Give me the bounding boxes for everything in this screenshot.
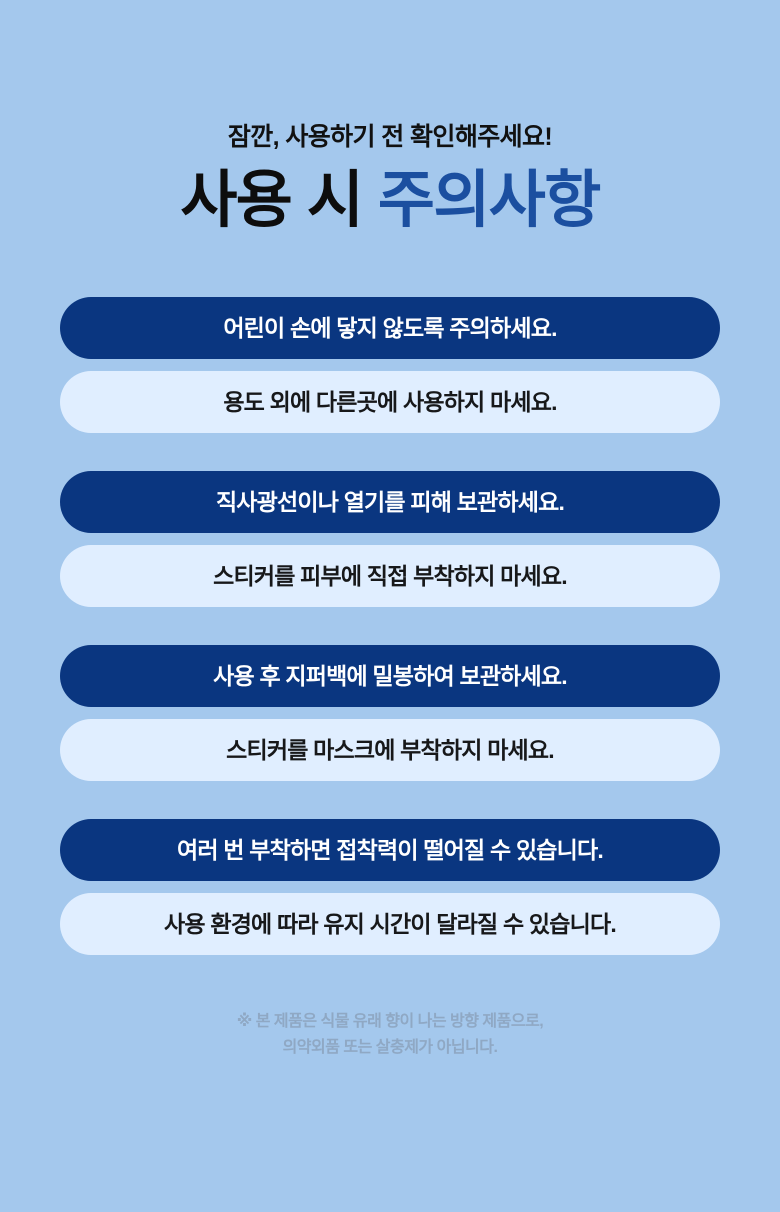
caution-item-secondary: 스티커를 마스크에 부착하지 마세요.	[60, 719, 720, 781]
caution-item-primary: 사용 후 지퍼백에 밀봉하여 보관하세요.	[60, 645, 720, 707]
caution-group: 사용 후 지퍼백에 밀봉하여 보관하세요. 스티커를 마스크에 부착하지 마세요…	[60, 645, 720, 781]
footnote: ※ 본 제품은 식물 유래 향이 나는 방향 제품으로, 의약외품 또는 살충제…	[60, 1009, 720, 1061]
poster-header: 잠깐, 사용하기 전 확인해주세요! 사용 시 주의사항	[0, 0, 780, 235]
page-title: 사용 시 주의사항	[0, 166, 780, 235]
caution-group: 어린이 손에 닿지 않도록 주의하세요. 용도 외에 다른곳에 사용하지 마세요…	[60, 297, 720, 433]
page-title-main: 사용 시	[180, 166, 378, 235]
footnote-line-2: 의약외품 또는 살충제가 아닙니다.	[60, 1035, 720, 1061]
footnote-line-1: ※ 본 제품은 식물 유래 향이 나는 방향 제품으로,	[60, 1009, 720, 1035]
caution-item-secondary: 스티커를 피부에 직접 부착하지 마세요.	[60, 545, 720, 607]
caution-item-primary: 여러 번 부착하면 접착력이 떨어질 수 있습니다.	[60, 819, 720, 881]
caution-item-primary: 직사광선이나 열기를 피해 보관하세요.	[60, 471, 720, 533]
caution-item-secondary: 사용 환경에 따라 유지 시간이 달라질 수 있습니다.	[60, 893, 720, 955]
caution-item-primary: 어린이 손에 닿지 않도록 주의하세요.	[60, 297, 720, 359]
caution-group: 여러 번 부착하면 접착력이 떨어질 수 있습니다. 사용 환경에 따라 유지 …	[60, 819, 720, 955]
caution-item-secondary: 용도 외에 다른곳에 사용하지 마세요.	[60, 371, 720, 433]
caution-list: 어린이 손에 닿지 않도록 주의하세요. 용도 외에 다른곳에 사용하지 마세요…	[60, 297, 720, 955]
eyebrow-text: 잠깐, 사용하기 전 확인해주세요!	[0, 122, 780, 152]
caution-poster: 잠깐, 사용하기 전 확인해주세요! 사용 시 주의사항 어린이 손에 닿지 않…	[0, 0, 780, 1212]
caution-group: 직사광선이나 열기를 피해 보관하세요. 스티커를 피부에 직접 부착하지 마세…	[60, 471, 720, 607]
page-title-accent: 주의사항	[378, 166, 600, 235]
